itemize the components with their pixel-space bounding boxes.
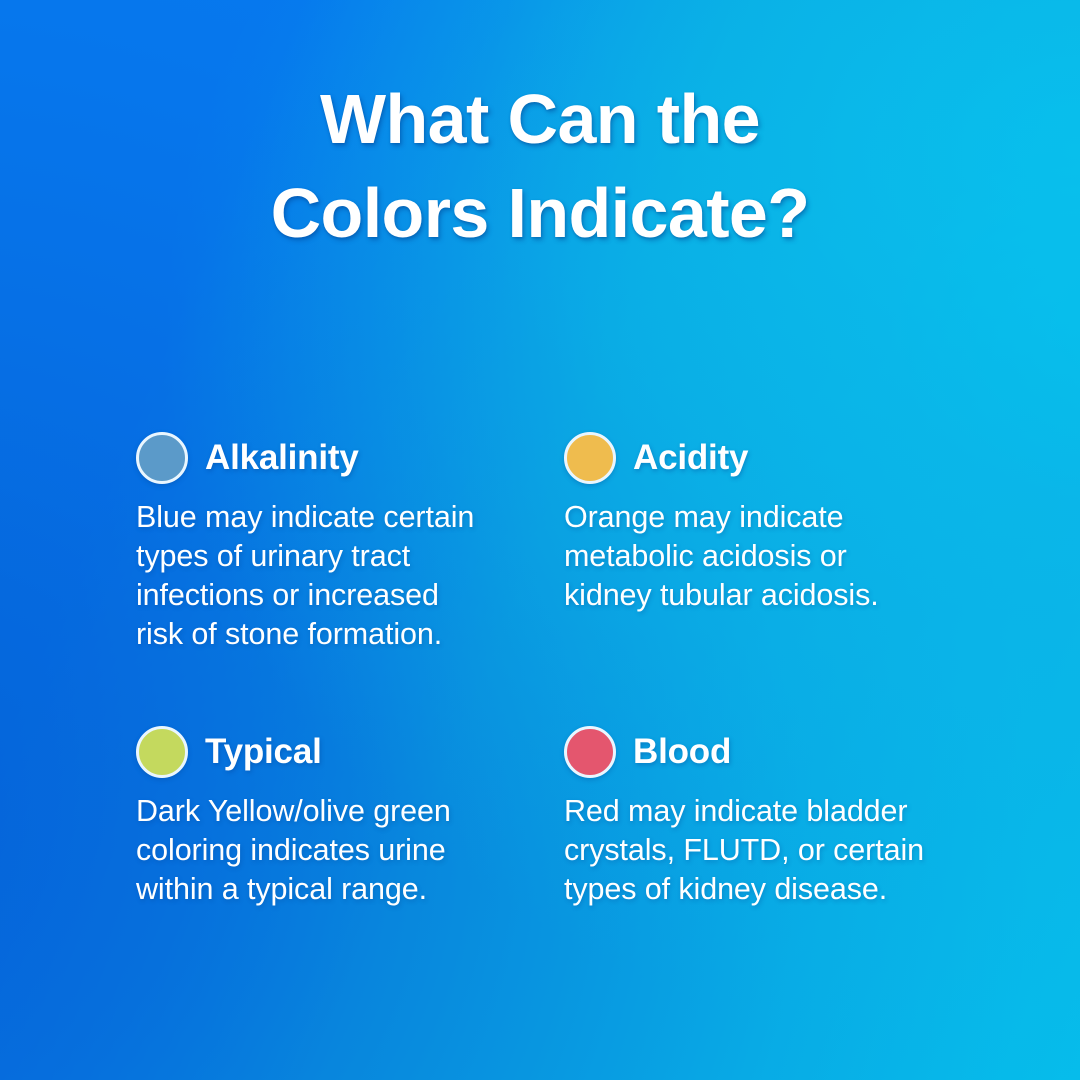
page-title-line-1: What Can the [0, 72, 1080, 166]
legend-item-description-acidity: Orange may indicate metabolic acidosis o… [564, 498, 964, 615]
infographic-canvas: What Can the Colors Indicate? Alkalinity… [0, 0, 1080, 1080]
description-line: Orange may indicate [564, 498, 964, 537]
description-line: coloring indicates urine [136, 831, 536, 870]
legend-item-label-typical: Typical [205, 732, 322, 772]
description-line: crystals, FLUTD, or certain [564, 831, 964, 870]
description-line: metabolic acidosis or [564, 537, 964, 576]
color-swatch-alkalinity-icon [136, 432, 188, 484]
legend-item-description-typical: Dark Yellow/olive green coloring indicat… [136, 792, 536, 909]
legend-item-description-alkalinity: Blue may indicate certain types of urina… [136, 498, 536, 654]
description-line: within a typical range. [136, 870, 536, 909]
description-line: Blue may indicate certain [136, 498, 536, 537]
legend-item-header-blood: Blood [564, 724, 966, 780]
description-line: kidney tubular acidosis. [564, 576, 964, 615]
color-swatch-blood-icon [564, 726, 616, 778]
legend-item-description-blood: Red may indicate bladder crystals, FLUTD… [564, 792, 964, 909]
description-line: risk of stone formation. [136, 615, 536, 654]
legend-item-header-acidity: Acidity [564, 430, 966, 486]
legend-item-label-acidity: Acidity [633, 438, 748, 478]
color-legend-list: Alkalinity Blue may indicate certain typ… [136, 430, 966, 909]
page-title: What Can the Colors Indicate? [0, 72, 1080, 260]
legend-item-label-blood: Blood [633, 732, 731, 772]
list-item: Typical Dark Yellow/olive green coloring… [136, 724, 564, 909]
description-line: types of kidney disease. [564, 870, 964, 909]
legend-item-label-alkalinity: Alkalinity [205, 438, 359, 478]
list-item: Alkalinity Blue may indicate certain typ… [136, 430, 564, 654]
color-swatch-acidity-icon [564, 432, 616, 484]
description-line: Red may indicate bladder [564, 792, 964, 831]
legend-item-header-typical: Typical [136, 724, 564, 780]
description-line: Dark Yellow/olive green [136, 792, 536, 831]
page-title-line-2: Colors Indicate? [0, 166, 1080, 260]
color-swatch-typical-icon [136, 726, 188, 778]
list-item: Blood Red may indicate bladder crystals,… [564, 724, 966, 909]
description-line: infections or increased [136, 576, 536, 615]
list-item: Acidity Orange may indicate metabolic ac… [564, 430, 966, 654]
description-line: types of urinary tract [136, 537, 536, 576]
legend-item-header-alkalinity: Alkalinity [136, 430, 564, 486]
